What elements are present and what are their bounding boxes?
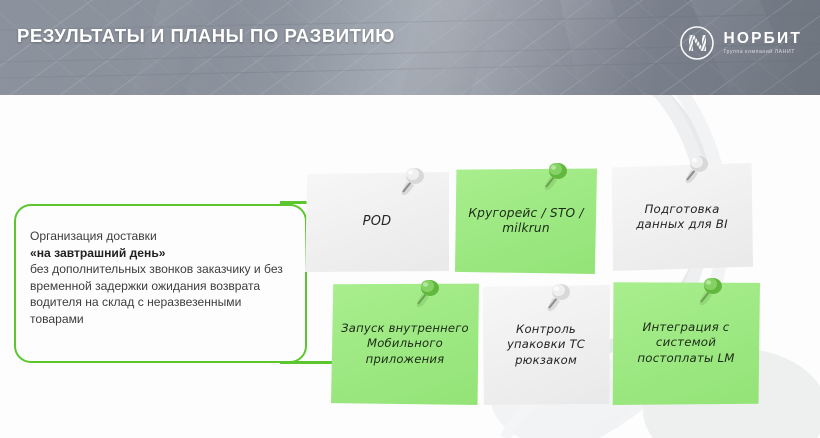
slide: РЕЗУЛЬТАТЫ И ПЛАНЫ ПО РАЗВИТИЮ НОРБИТ Г xyxy=(0,0,820,438)
sticky-note-label: Подготовка данных для BI xyxy=(611,202,753,233)
sticky-note-label: Интеграция с системой постоплаты LM xyxy=(612,320,760,367)
sticky-note[interactable]: Контроль упаковки ТС рюкзаком xyxy=(482,285,610,405)
callout-line-2: без дополнительных звонков заказчику и б… xyxy=(30,262,283,326)
norbit-logo[interactable]: НОРБИТ Группа компаний ЛАНИТ xyxy=(680,22,802,64)
norbit-logo-icon xyxy=(680,26,714,60)
logo-subtitle: Группа компаний ЛАНИТ xyxy=(723,50,802,55)
page-title: РЕЗУЛЬТАТЫ И ПЛАНЫ ПО РАЗВИТИЮ xyxy=(17,25,395,47)
logo-name: НОРБИТ xyxy=(723,31,802,47)
callout-emphasis: «на завтрашний день» xyxy=(30,246,166,260)
slide-header: РЕЗУЛЬТАТЫ И ПЛАНЫ ПО РАЗВИТИЮ НОРБИТ Г xyxy=(0,0,820,95)
connector-line-top xyxy=(280,201,310,204)
sticky-note[interactable]: POD xyxy=(305,172,449,272)
connector-line-bottom xyxy=(280,361,340,364)
callout-text: Организация доставки «на завтрашний день… xyxy=(30,228,292,328)
sticky-note[interactable]: Интеграция с системой постоплаты LM xyxy=(612,281,760,405)
callout-line-1: Организация доставки xyxy=(30,229,157,243)
sticky-note[interactable]: Подготовка данных для BI xyxy=(611,163,753,271)
sticky-note[interactable]: Запуск внутреннего Мобильного приложения xyxy=(331,283,479,405)
sticky-note-label: POD xyxy=(355,214,400,230)
sticky-note[interactable]: Кругорейс / STO / milkrun xyxy=(455,168,597,274)
sticky-note-label: Кругорейс / STO / milkrun xyxy=(455,206,597,237)
sticky-note-label: Запуск внутреннего Мобильного приложения xyxy=(331,321,479,368)
sticky-note-label: Контроль упаковки ТС рюкзаком xyxy=(482,322,610,369)
